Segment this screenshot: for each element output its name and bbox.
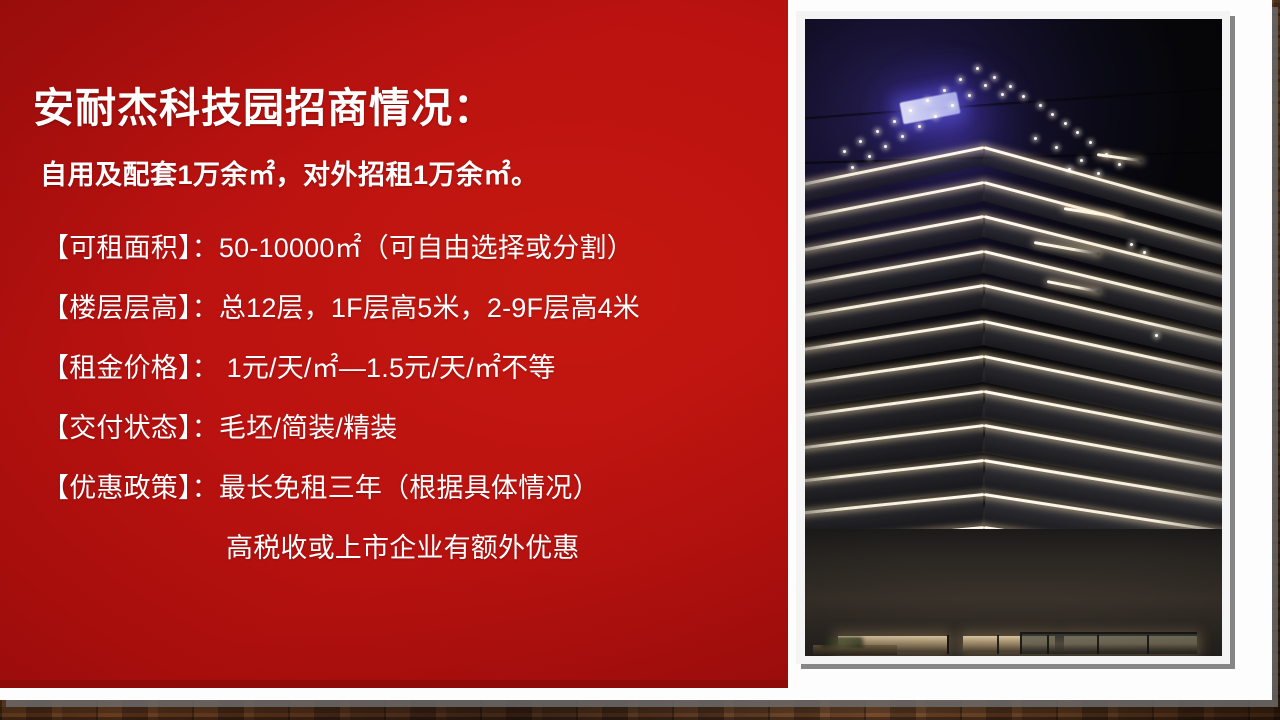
page-subtitle: 自用及配套1万余㎡，对外招租1万余㎡。 <box>40 162 539 189</box>
list-item: 高税收或上市企业有额外优惠 <box>42 518 782 578</box>
roof-point-light <box>993 76 996 79</box>
roof-point-light <box>1064 122 1067 125</box>
roof-point-light <box>1009 85 1012 88</box>
roof-point-light <box>843 150 846 153</box>
roof-point-light <box>1039 104 1042 107</box>
roof-point-light <box>1130 243 1133 246</box>
roof-point-light <box>1097 172 1100 175</box>
roof-point-light <box>976 67 979 70</box>
roof-point-light <box>1080 159 1083 162</box>
page-title: 安耐杰科技园招商情况： <box>33 88 495 129</box>
roof-point-light <box>968 94 971 97</box>
roof-point-light <box>943 89 946 92</box>
roof-point-light <box>1143 251 1146 254</box>
window-mullion <box>1047 635 1049 654</box>
text-content-block: 安耐杰科技园招商情况： 自用及配套1万余㎡，对外招租1万余㎡。 【可租面积】：5… <box>0 0 788 680</box>
ground-floor <box>805 529 1222 656</box>
roof-point-light <box>859 140 862 143</box>
slide-canvas: 安耐杰科技园招商情况： 自用及配套1万余㎡，对外招租1万余㎡。 【可租面积】：5… <box>0 0 1272 700</box>
roof-point-light <box>1068 168 1071 171</box>
roof-point-light <box>1051 113 1054 116</box>
roof-point-light <box>1055 146 1058 149</box>
roof-point-light <box>1001 93 1004 96</box>
roof-point-light <box>951 104 954 107</box>
roof-point-light <box>1118 163 1121 166</box>
accent-light-strip <box>1097 153 1143 162</box>
window-mullion <box>997 635 999 654</box>
roof-point-light <box>959 78 962 81</box>
roof-point-light <box>884 145 887 148</box>
slide-background: 安耐杰科技园招商情况： 自用及配套1万余㎡，对外招租1万余㎡。 【可租面积】：5… <box>0 0 1272 700</box>
roof-point-light <box>1034 137 1037 140</box>
window-mullion <box>1147 635 1149 654</box>
shrub <box>818 637 872 648</box>
roof-point-light <box>868 155 871 158</box>
bullet-list: 【可租面积】：50-10000㎡（可自由选择或分割） 【楼层层高】：总12层，1… <box>42 218 782 578</box>
roof-point-light <box>1089 141 1092 144</box>
night-building-photo <box>805 19 1222 656</box>
roof-point-light <box>1076 131 1079 134</box>
roof-point-light <box>851 166 854 169</box>
roof-point-light <box>984 84 987 87</box>
photo-frame <box>796 11 1230 664</box>
roof-point-light <box>926 99 929 102</box>
roof-point-light <box>909 109 912 112</box>
roof-point-light <box>893 120 896 123</box>
roof-point-light <box>918 125 921 128</box>
roof-point-light <box>901 135 904 138</box>
window-mullion <box>1097 635 1099 654</box>
list-item: 【租金价格】： 1元/天/㎡—1.5元/天/㎡不等 <box>42 338 782 398</box>
list-item: 【交付状态】：毛坯/简装/精装 <box>42 398 782 458</box>
list-item: 【楼层层高】：总12层，1F层高5米，2-9F层高4米 <box>42 278 782 338</box>
roof-point-light <box>934 115 937 118</box>
red-panel-bottom-strip <box>0 680 788 688</box>
list-item: 【优惠政策】：最长免租三年（根据具体情况） <box>42 458 782 518</box>
list-item: 【可租面积】：50-10000㎡（可自由选择或分割） <box>42 218 782 278</box>
window-mullion <box>947 635 949 654</box>
roof-point-light <box>1022 95 1025 98</box>
roof-point-light <box>876 130 879 133</box>
